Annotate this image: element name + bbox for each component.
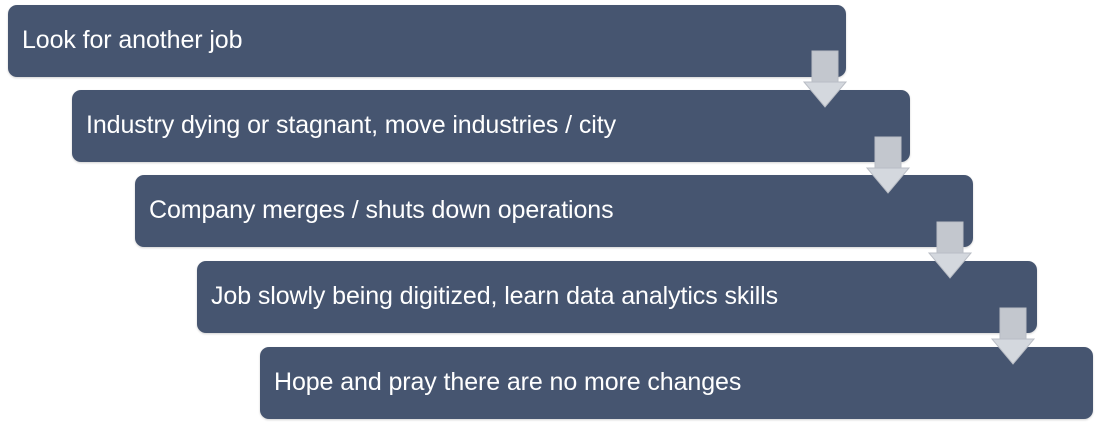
process-step-label-2: Industry dying or stagnant, move industr… bbox=[72, 112, 616, 140]
process-step-box-5[interactable]: Hope and pray there are no more changes bbox=[260, 347, 1093, 419]
diagram-canvas: Look for another job Industry dying or s… bbox=[0, 0, 1100, 426]
process-step-box-2[interactable]: Industry dying or stagnant, move industr… bbox=[72, 90, 910, 162]
process-step-label-1: Look for another job bbox=[8, 27, 242, 55]
process-step-box-3[interactable]: Company merges / shuts down operations bbox=[135, 175, 973, 247]
process-step-label-4: Job slowly being digitized, learn data a… bbox=[197, 283, 778, 311]
process-step-box-1[interactable]: Look for another job bbox=[8, 5, 846, 77]
process-step-label-3: Company merges / shuts down operations bbox=[135, 197, 614, 225]
process-step-label-5: Hope and pray there are no more changes bbox=[260, 369, 741, 397]
process-step-box-4[interactable]: Job slowly being digitized, learn data a… bbox=[197, 261, 1037, 333]
